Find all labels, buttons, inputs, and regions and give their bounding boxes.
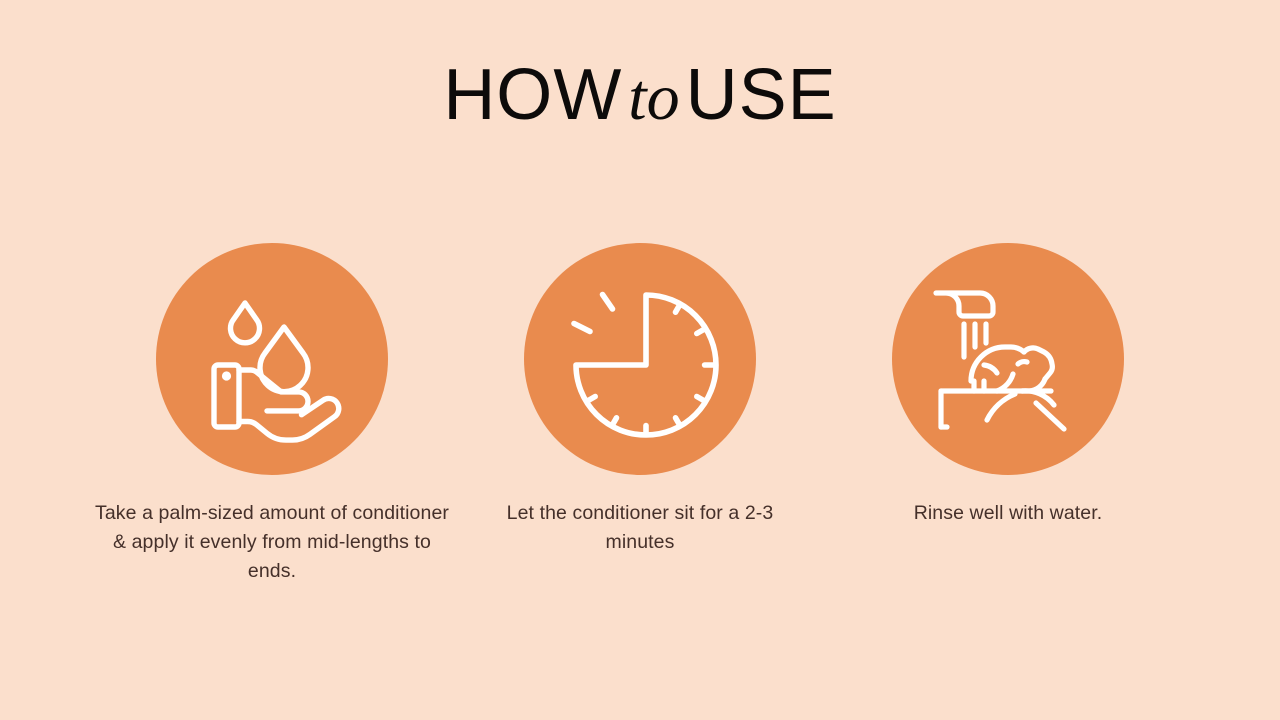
title-word-to: to xyxy=(622,61,685,134)
title-word-use: USE xyxy=(686,55,837,135)
steps-row: Take a palm-sized amount of conditioner … xyxy=(0,243,1280,586)
page-title: HOWtoUSE xyxy=(0,52,1280,141)
step-2-caption: Let the conditioner sit for a 2-3 minute… xyxy=(490,499,790,557)
step-2-icon-circle xyxy=(524,243,756,475)
step-1-icon-circle xyxy=(156,243,388,475)
step-1-caption: Take a palm-sized amount of conditioner … xyxy=(92,499,452,586)
step-item: Rinse well with water. xyxy=(824,243,1192,528)
title-word-how: HOW xyxy=(443,55,622,135)
hand-with-droplets-icon xyxy=(182,269,362,449)
step-3-caption: Rinse well with water. xyxy=(843,499,1173,528)
hair-washing-basin-icon xyxy=(918,269,1098,449)
step-item: Let the conditioner sit for a 2-3 minute… xyxy=(456,243,824,557)
clock-timer-icon xyxy=(550,269,730,449)
step-3-icon-circle xyxy=(892,243,1124,475)
step-item: Take a palm-sized amount of conditioner … xyxy=(88,243,456,586)
how-to-use-slide: HOWtoUSE xyxy=(0,0,1280,720)
